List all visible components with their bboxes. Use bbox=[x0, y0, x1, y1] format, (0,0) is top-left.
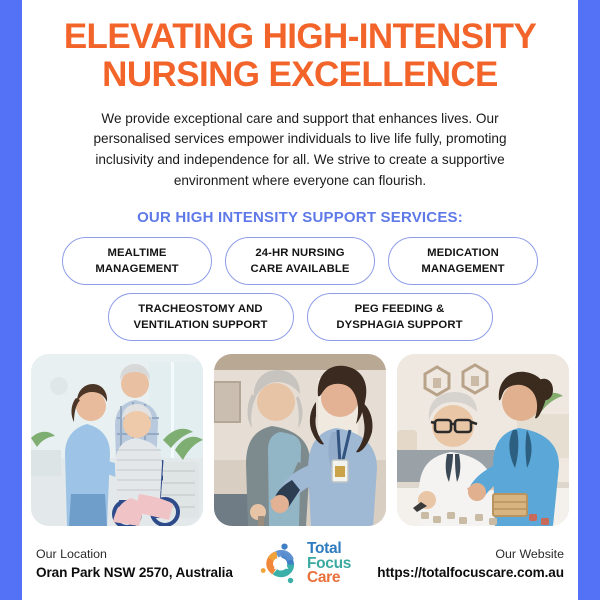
photo-gallery bbox=[27, 354, 573, 526]
footer-website-block: Our Website https://totalfocuscare.com.a… bbox=[377, 545, 564, 584]
photo-nurse-assisting-man-with-puzzle bbox=[397, 354, 569, 526]
page-title: ELEVATING HIGH-INTENSITY NURSING EXCELLE… bbox=[40, 18, 560, 94]
services-pill-list: MEALTIME MANAGEMENT 24-HR NURSING CARE A… bbox=[27, 237, 573, 341]
service-pill-24hr-nursing-care[interactable]: 24-HR NURSING CARE AVAILABLE bbox=[225, 237, 375, 285]
photo-nurse-supporting-elderly-woman-walking bbox=[214, 354, 386, 526]
footer-website-value[interactable]: https://totalfocuscare.com.au bbox=[377, 563, 564, 583]
poster-card: ELEVATING HIGH-INTENSITY NURSING EXCELLE… bbox=[22, 0, 578, 600]
footer-location-block: Our Location Oran Park NSW 2570, Austral… bbox=[36, 545, 233, 584]
swirl-logo-icon bbox=[259, 543, 303, 585]
services-section-title: OUR HIGH INTENSITY SUPPORT SERVICES: bbox=[137, 209, 463, 226]
service-pill-tracheostomy-ventilation[interactable]: TRACHEOSTOMY AND VENTILATION SUPPORT bbox=[108, 293, 294, 341]
footer-location-label: Our Location bbox=[36, 545, 233, 564]
poster: ELEVATING HIGH-INTENSITY NURSING EXCELLE… bbox=[0, 0, 600, 600]
headline-line-1: ELEVATING HIGH-INTENSITY bbox=[64, 17, 536, 56]
headline-line-2: NURSING EXCELLENCE bbox=[40, 56, 560, 94]
service-pill-peg-feeding-dysphagia[interactable]: PEG FEEDING & DYSPHAGIA SUPPORT bbox=[307, 293, 493, 341]
brand-logo[interactable]: Total Focus Care bbox=[259, 542, 351, 587]
footer-website-label: Our Website bbox=[495, 545, 564, 564]
footer: Our Location Oran Park NSW 2570, Austral… bbox=[36, 538, 564, 590]
service-pill-mealtime-management[interactable]: MEALTIME MANAGEMENT bbox=[62, 237, 212, 285]
intro-paragraph: We provide exceptional care and support … bbox=[65, 109, 535, 192]
service-pill-medication-management[interactable]: MEDICATION MANAGEMENT bbox=[388, 237, 538, 285]
footer-location-value: Oran Park NSW 2570, Australia bbox=[36, 563, 233, 583]
brand-logo-text: Total Focus Care bbox=[307, 542, 351, 587]
brand-logo-line-care: Care bbox=[307, 571, 351, 586]
photo-nurse-with-elderly-couple-wheelchair bbox=[31, 354, 203, 526]
